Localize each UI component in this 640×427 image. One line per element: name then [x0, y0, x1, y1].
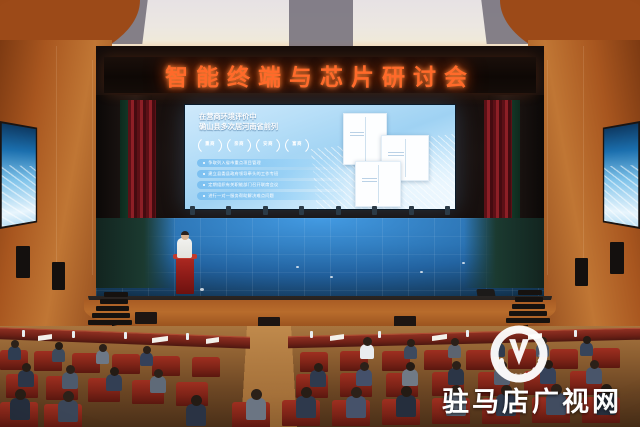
attendee-head — [498, 361, 507, 370]
badge-bottom: 商 — [210, 143, 214, 147]
attendee-head — [539, 337, 547, 345]
attendee — [540, 367, 556, 384]
slide-bullet: 争取列入省市重点项目管理 — [197, 159, 345, 167]
stair-step — [518, 290, 542, 295]
side-display-right — [603, 121, 640, 229]
attendee-head — [501, 385, 512, 396]
attendee-head — [360, 362, 369, 371]
stair-step — [506, 318, 550, 323]
stage-floor-marker — [462, 262, 465, 264]
slide-badge: 亲 商 — [227, 136, 251, 155]
attendee-head — [401, 386, 412, 397]
water-bottle — [574, 330, 577, 337]
stage-stairs-right — [500, 282, 552, 330]
attendee — [492, 343, 505, 357]
attendee-head — [15, 389, 26, 400]
attendee — [10, 398, 30, 420]
slide-bullet: 定期组织有关职能部门召开联席会议 — [197, 181, 345, 189]
attendee — [18, 370, 34, 387]
slide-title-line2: 确山县多次居河南省前列 — [199, 122, 319, 132]
attendee — [580, 342, 593, 356]
attendee — [402, 369, 418, 386]
attendee-head — [407, 339, 415, 347]
bullet-text: 定期组织有关职能部门召开联席会议 — [208, 182, 278, 188]
attendee-head — [583, 336, 591, 344]
attendee-head — [143, 346, 151, 354]
stair-step — [104, 292, 128, 297]
attendee-head — [495, 337, 503, 345]
stair-step — [96, 306, 129, 311]
audience-seat — [508, 349, 536, 369]
attendee — [8, 346, 21, 360]
water-bottle — [22, 330, 25, 337]
slide-title-line1: 在营商环境评价中 — [199, 112, 319, 122]
wall-seam — [56, 46, 57, 276]
wall-seam — [92, 60, 93, 275]
attendee — [396, 395, 416, 417]
attendee — [448, 344, 461, 358]
attendee — [52, 348, 65, 362]
slide-title: 在营商环境评价中 确山县多次居河南省前列 — [199, 112, 319, 131]
slide-document-images — [341, 111, 447, 205]
wall-speaker — [52, 262, 65, 290]
attendee-head — [191, 395, 202, 406]
ceiling-acoustic-panel — [289, 0, 353, 46]
attendee-head — [601, 384, 612, 395]
attendee-head — [22, 363, 31, 372]
water-bottle — [378, 331, 381, 338]
stair-step — [92, 313, 130, 318]
attendee-head — [351, 387, 362, 398]
attendee — [356, 369, 372, 386]
water-bottle — [310, 331, 313, 338]
speaker-hair — [181, 231, 189, 235]
attendee-head — [544, 360, 553, 369]
attendee-head — [314, 363, 323, 372]
attendee — [246, 398, 266, 420]
screen-clip — [263, 206, 268, 215]
wall-speaker — [16, 246, 30, 278]
attendee-head — [110, 367, 119, 376]
screen-clip — [445, 206, 450, 215]
attendee — [62, 372, 78, 389]
presentation-slide: 在营商环境评价中 确山县多次居河南省前列 重 商 亲 商 安 商 富 — [185, 105, 455, 209]
speaker-person — [177, 238, 192, 258]
attendee — [586, 367, 602, 384]
podium — [176, 256, 194, 294]
attendee-head — [66, 365, 75, 374]
attendee — [404, 345, 417, 359]
badge-bottom: 商 — [239, 143, 243, 147]
attendee — [346, 396, 366, 418]
slide-badge: 重 商 — [198, 136, 222, 155]
attendee — [58, 400, 78, 422]
attendee — [596, 393, 616, 415]
wall-seam — [547, 60, 548, 275]
attendee — [150, 376, 166, 393]
attendee — [536, 343, 549, 357]
side-display-left — [0, 121, 37, 229]
badge-bottom: 商 — [268, 143, 272, 147]
attendee-head — [406, 362, 415, 371]
attendee-head — [590, 360, 599, 369]
attendee — [446, 394, 466, 416]
screen-clip — [226, 206, 231, 215]
attendee — [106, 374, 122, 391]
attendee — [140, 352, 153, 366]
bullet-dot-icon — [203, 195, 205, 197]
attendee — [496, 394, 516, 416]
slide-badge: 富 商 — [285, 136, 309, 155]
attendee — [546, 393, 566, 415]
stair-step — [509, 311, 547, 316]
attendee-head — [99, 344, 107, 352]
audience-seat — [466, 350, 494, 370]
screen-clip — [299, 206, 304, 215]
stage-floor-marker — [330, 276, 333, 278]
attendee-head — [451, 385, 462, 396]
wall-seam — [583, 46, 584, 276]
attendee-head — [451, 338, 459, 346]
attendee — [448, 368, 464, 385]
attendee-head — [363, 337, 372, 346]
stair-step — [515, 297, 543, 302]
audience-seat — [550, 349, 578, 369]
attendee-head — [301, 387, 312, 398]
water-bottle — [186, 333, 189, 340]
badge-bottom: 商 — [297, 143, 301, 147]
slide-bullet: 建立县委县政府领导牵头的工作专班 — [197, 170, 345, 178]
attendee-head — [551, 384, 562, 395]
bullet-text: 进行一对一服务帮助解决难点问题 — [208, 193, 274, 199]
screen-clip — [372, 206, 377, 215]
attendee-head — [452, 361, 461, 370]
led-banner: 智能终端与芯片研讨会 — [104, 57, 536, 93]
bullet-text: 争取列入省市重点项目管理 — [208, 160, 261, 166]
conference-hall-photo: 智能终端与芯片研讨会 在营商环境评价中 确山县多次居河南省前列 重 商 亲 商 — [0, 0, 640, 427]
led-banner-text: 智能终端与芯片研讨会 — [165, 58, 475, 92]
water-bottle — [72, 331, 75, 338]
attendee-head — [251, 389, 262, 400]
audience-area — [0, 326, 640, 427]
water-bottle — [124, 332, 127, 339]
stair-step — [88, 320, 132, 325]
attendee — [494, 368, 510, 385]
attendee — [310, 370, 326, 387]
audience-seat — [192, 357, 220, 377]
screen-mount-clips — [184, 206, 456, 215]
stair-step — [100, 299, 128, 304]
wall-speaker — [575, 258, 588, 286]
stage-floor-marker — [200, 288, 204, 291]
document-thumbnail — [355, 161, 401, 207]
screen-clip — [336, 206, 341, 215]
attendee-head — [55, 342, 63, 350]
screen-clip — [190, 206, 195, 215]
attendee-head — [154, 369, 163, 378]
attendee — [96, 350, 109, 364]
attendee — [360, 344, 374, 359]
wall-speaker — [610, 242, 624, 274]
bullet-text: 建立县委县政府领导牵头的工作专班 — [208, 171, 278, 177]
bullet-dot-icon — [203, 173, 205, 175]
screen-clip — [409, 206, 414, 215]
slide-bullet: 进行一对一服务帮助解决难点问题 — [197, 192, 345, 200]
stage-floor-marker — [420, 271, 423, 273]
bullet-dot-icon — [203, 184, 205, 186]
attendee — [186, 404, 206, 426]
stage-shadow-right — [464, 218, 544, 288]
attendee — [296, 396, 316, 418]
stage-shadow-left — [96, 218, 176, 288]
attendee-head — [11, 340, 19, 348]
bullet-dot-icon — [203, 162, 205, 164]
water-bottle — [466, 330, 469, 337]
stair-step — [512, 304, 545, 309]
slide-bullet-list: 争取列入省市重点项目管理 建立县委县政府领导牵头的工作专班 定期组织有关职能部门… — [197, 159, 345, 203]
slide-badge-row: 重 商 亲 商 安 商 富 商 — [198, 136, 309, 155]
slide-badge: 安 商 — [256, 136, 280, 155]
stage-floor-marker — [296, 266, 299, 268]
attendee-head — [63, 391, 74, 402]
main-projection-screen: 在营商环境评价中 确山县多次居河南省前列 重 商 亲 商 安 商 富 — [184, 104, 456, 210]
